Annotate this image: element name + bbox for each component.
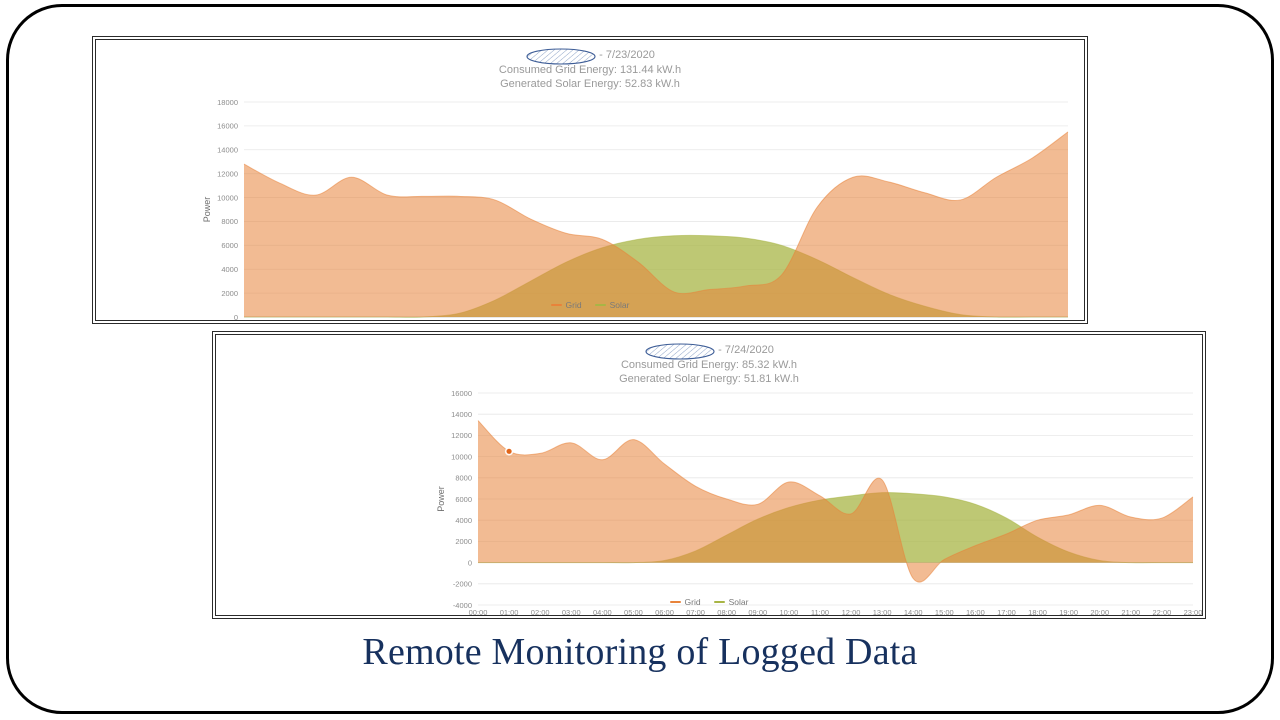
svg-text:06:00: 06:00 [655, 608, 674, 617]
legend-label-grid: Grid [685, 597, 701, 607]
svg-text:01:00: 01:00 [270, 320, 289, 322]
svg-text:22:00: 22:00 [1023, 320, 1042, 322]
svg-text:4000: 4000 [221, 265, 238, 274]
svg-text:14:00: 14:00 [904, 608, 923, 617]
svg-text:20:00: 20:00 [1090, 608, 1109, 617]
svg-text:12:00: 12:00 [665, 320, 684, 322]
slide-title: Remote Monitoring of Logged Data [0, 630, 1280, 674]
svg-text:04:00: 04:00 [378, 320, 397, 322]
svg-text:23:00: 23:00 [1184, 608, 1203, 617]
svg-text:8000: 8000 [455, 474, 472, 483]
svg-text:16:00: 16:00 [966, 608, 985, 617]
svg-text:10000: 10000 [217, 193, 238, 202]
legend-swatch-grid-icon [670, 601, 681, 604]
svg-text:17:00: 17:00 [997, 608, 1016, 617]
svg-text:14:00: 14:00 [736, 320, 755, 322]
svg-text:05:00: 05:00 [624, 608, 643, 617]
svg-text:04:00: 04:00 [593, 608, 612, 617]
svg-text:6000: 6000 [221, 241, 238, 250]
legend-swatch-solar-icon [595, 304, 606, 307]
svg-text:00:00: 00:00 [469, 608, 488, 617]
svg-text:22:00: 22:00 [1153, 608, 1172, 617]
svg-text:-2000: -2000 [453, 580, 472, 589]
svg-text:08:00: 08:00 [717, 608, 736, 617]
svg-text:14000: 14000 [451, 410, 472, 419]
chart-panel-day-2: - 7/24/2020 Consumed Grid Energy: 85.32 … [215, 334, 1203, 616]
chart-legend-day-2: Grid Solar [216, 597, 1202, 607]
legend-swatch-grid-icon [551, 304, 562, 307]
area-chart-day-2: -4000-2000020004000600080001000012000140… [216, 335, 1204, 617]
svg-text:19:00: 19:00 [915, 320, 934, 322]
svg-text:14000: 14000 [217, 146, 238, 155]
svg-text:18000: 18000 [217, 98, 238, 107]
svg-text:15:00: 15:00 [772, 320, 791, 322]
legend-item-solar[interactable]: Solar [714, 597, 749, 607]
svg-text:Power: Power [202, 197, 212, 223]
svg-text:10:00: 10:00 [593, 320, 612, 322]
svg-text:15:00: 15:00 [935, 608, 954, 617]
svg-text:10:00: 10:00 [779, 608, 798, 617]
svg-text:18:00: 18:00 [879, 320, 898, 322]
svg-text:16:00: 16:00 [808, 320, 827, 322]
svg-text:02:00: 02:00 [306, 320, 325, 322]
svg-text:16000: 16000 [451, 389, 472, 398]
svg-text:2000: 2000 [455, 537, 472, 546]
svg-text:18:00: 18:00 [1028, 608, 1047, 617]
svg-text:08:00: 08:00 [521, 320, 540, 322]
svg-text:0: 0 [468, 558, 472, 567]
svg-text:03:00: 03:00 [562, 608, 581, 617]
slide: - 7/23/2020 Consumed Grid Energy: 131.44… [0, 0, 1280, 720]
svg-text:4000: 4000 [455, 516, 472, 525]
svg-text:13:00: 13:00 [700, 320, 719, 322]
svg-text:21:00: 21:00 [987, 320, 1006, 322]
svg-text:Power: Power [436, 486, 446, 512]
svg-text:16000: 16000 [217, 122, 238, 131]
chart-panel-day-1: - 7/23/2020 Consumed Grid Energy: 131.44… [95, 39, 1085, 321]
svg-text:17:00: 17:00 [844, 320, 863, 322]
svg-text:05:00: 05:00 [414, 320, 433, 322]
legend-label-solar: Solar [729, 597, 749, 607]
svg-text:01:00: 01:00 [500, 608, 519, 617]
svg-text:12:00: 12:00 [842, 608, 861, 617]
svg-text:03:00: 03:00 [342, 320, 361, 322]
svg-text:23:00: 23:00 [1059, 320, 1078, 322]
legend-item-solar[interactable]: Solar [595, 300, 630, 310]
svg-text:2000: 2000 [221, 289, 238, 298]
svg-text:20:00: 20:00 [951, 320, 970, 322]
svg-text:19:00: 19:00 [1059, 608, 1078, 617]
legend-swatch-solar-icon [714, 601, 725, 604]
svg-text:11:00: 11:00 [811, 608, 829, 617]
area-chart-day-1: 0200040006000800010000120001400016000180… [96, 40, 1086, 322]
svg-text:09:00: 09:00 [557, 320, 576, 322]
svg-text:13:00: 13:00 [873, 608, 892, 617]
svg-text:02:00: 02:00 [531, 608, 550, 617]
svg-text:21:00: 21:00 [1121, 608, 1140, 617]
legend-item-grid[interactable]: Grid [551, 300, 582, 310]
legend-label-solar: Solar [610, 300, 630, 310]
svg-text:09:00: 09:00 [748, 608, 767, 617]
svg-text:12000: 12000 [451, 431, 472, 440]
chart-legend-day-1: Grid Solar [96, 300, 1084, 310]
svg-text:06:00: 06:00 [450, 320, 469, 322]
svg-text:07:00: 07:00 [686, 608, 705, 617]
svg-text:00:00: 00:00 [235, 320, 254, 322]
svg-text:07:00: 07:00 [485, 320, 504, 322]
svg-text:10000: 10000 [451, 452, 472, 461]
legend-label-grid: Grid [566, 300, 582, 310]
svg-text:12000: 12000 [217, 169, 238, 178]
svg-text:8000: 8000 [221, 217, 238, 226]
svg-text:11:00: 11:00 [629, 320, 647, 322]
legend-item-grid[interactable]: Grid [670, 597, 701, 607]
data-point-marker[interactable] [506, 449, 511, 454]
svg-text:6000: 6000 [455, 495, 472, 504]
